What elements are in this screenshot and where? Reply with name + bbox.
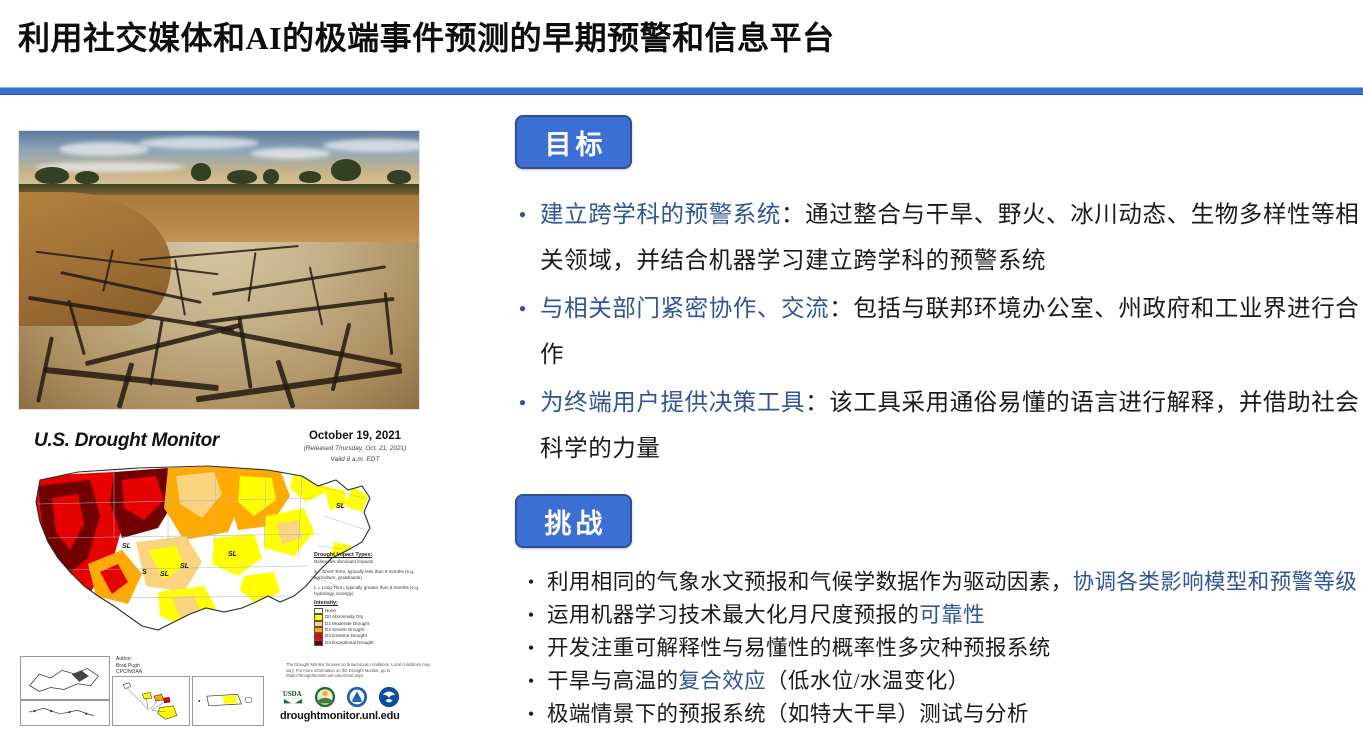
noaa-logo — [378, 686, 400, 708]
map-agency-logos: USDA — [282, 686, 400, 708]
challenge-item-text: 利用相同的气象水文预报和气候学数据作为驱动因素，协调各类影响模型和预警等级 — [547, 566, 1363, 599]
challenge-item-pre: 干旱与高温的 — [547, 669, 678, 693]
svg-text:SL: SL — [180, 563, 189, 570]
challenge-item-text: 开发注重可解释性与易懂性的概率性多灾种预报系统 — [547, 632, 1363, 665]
list-item: • 运用机器学习技术最大化月尺度预报的可靠性 — [515, 599, 1363, 632]
challenge-item-pre: 运用机器学习技术最大化月尺度预报的 — [547, 603, 919, 627]
photo-crack-pattern — [19, 242, 419, 409]
goal-item-highlight: 为终端用户提供决策工具 — [540, 390, 805, 416]
usda-logo: USDA — [282, 686, 304, 708]
us-drought-monitor-map: U.S. Drought Monitor October 19, 2021 (R… — [18, 424, 438, 724]
tree-shape — [299, 171, 321, 183]
challenge-item-highlight: 复合效应 — [678, 669, 766, 693]
challenge-item-text: 干旱与高温的复合效应（低水位/水温变化） — [547, 665, 1363, 698]
legend-item: D4 Exceptional Drought — [314, 640, 434, 646]
intensity-heading: Intensity: — [314, 600, 434, 606]
tree-shape — [387, 170, 411, 184]
map-footnote: The Drought Monitor focuses on broad-sca… — [286, 662, 436, 679]
challenge-item-text: 极端情景下的预报系统（如特大干旱）测试与分析 — [547, 698, 1363, 731]
impact-type-1: S = Short-Term, typically less than 6 mo… — [314, 569, 434, 582]
svg-text:SL: SL — [336, 503, 345, 510]
bullet-icon: • — [515, 698, 547, 731]
challenge-bullet-list: • 利用相同的气象水文预报和气候学数据作为驱动因素，协调各类影响模型和预警等级 … — [515, 566, 1363, 731]
list-item: • 利用相同的气象水文预报和气候学数据作为驱动因素，协调各类影响模型和预警等级 — [515, 566, 1363, 599]
inset-alaska — [20, 656, 110, 700]
goal-bullet-list: • 建立跨学科的预警系统：通过整合与干旱、野火、冰川动态、生物多样性等相关领域，… — [505, 192, 1363, 474]
challenge-item-highlight: 协调各类影响模型和预警等级 — [1073, 570, 1358, 594]
challenge-item-pre: 开发注重可解释性与易懂性的概率性多灾种预报系统 — [547, 636, 1051, 660]
goal-item-highlight: 建立跨学科的预警系统 — [540, 202, 781, 228]
svg-text:SL: SL — [160, 571, 169, 578]
challenge-item-pre: 利用相同的气象水文预报和气候学数据作为驱动因素， — [547, 570, 1073, 594]
ndmc-logo — [314, 686, 336, 708]
cloud-shape — [251, 148, 331, 159]
challenge-item-text: 运用机器学习技术最大化月尺度预报的可靠性 — [547, 599, 1363, 632]
challenge-item-post: （低水位/水温变化） — [766, 669, 969, 693]
usdc-logo — [346, 686, 368, 708]
svg-text:SL: SL — [122, 543, 131, 550]
goal-item-text: 为终端用户提供决策工具：该工具采用通俗易懂的语言进行解释，并借助社会科学的力量 — [540, 380, 1363, 472]
legend-swatch — [314, 640, 323, 646]
svg-text:SL: SL — [228, 551, 237, 558]
map-url: droughtmonitor.unl.edu — [280, 710, 400, 722]
bullet-icon: • — [505, 380, 540, 426]
impact-types-heading: Drought Impact Types: — [314, 552, 434, 558]
map-author: Author: Brad Pugh CPC/NOAA — [116, 656, 142, 676]
cloud-shape — [139, 137, 259, 149]
list-item: • 开发注重可解释性与易懂性的概率性多灾种预报系统 — [515, 632, 1363, 665]
bullet-icon: • — [515, 632, 547, 665]
inset-hawaii — [112, 676, 190, 726]
tree-shape — [263, 169, 279, 184]
page-title: 利用社交媒体和AI的极端事件预测的早期预警和信息平台 — [18, 16, 1338, 60]
inset-alaska-aleutians — [20, 700, 110, 726]
list-item: • 与相关部门紧密协作、交流：包括与联邦环境办公室、州政府和工业界进行合作 — [505, 286, 1363, 378]
challenge-item-highlight: 可靠性 — [919, 603, 985, 627]
goal-item-text: 与相关部门紧密协作、交流：包括与联邦环境办公室、州政府和工业界进行合作 — [540, 286, 1363, 378]
svg-text:USDA: USDA — [283, 691, 302, 698]
impact-type-2: L = Long-Term, typically greater than 6 … — [314, 585, 434, 598]
list-item: • 干旱与高温的复合效应（低水位/水温变化） — [515, 665, 1363, 698]
bullet-icon: • — [505, 192, 540, 238]
drought-photo — [18, 130, 420, 410]
bullet-icon: • — [515, 665, 547, 698]
map-date-value: October 19, 2021 — [309, 430, 401, 442]
author-org: CPC/NOAA — [116, 669, 142, 676]
section-header-challenge: 挑战 — [515, 494, 632, 548]
list-item: • 为终端用户提供决策工具：该工具采用通俗易懂的语言进行解释，并借助社会科学的力… — [505, 380, 1363, 472]
svg-text:S: S — [142, 569, 147, 576]
list-item: • 建立跨学科的预警系统：通过整合与干旱、野火、冰川动态、生物多样性等相关领域，… — [505, 192, 1363, 284]
tree-shape — [227, 170, 257, 184]
goal-item-text: 建立跨学科的预警系统：通过整合与干旱、野火、冰川动态、生物多样性等相关领域，并结… — [540, 192, 1363, 284]
title-divider-rule — [0, 87, 1363, 95]
map-legend: Drought Impact Types: Delineates dominan… — [314, 552, 434, 646]
goal-item-highlight: 与相关部门紧密协作、交流 — [540, 296, 829, 322]
bullet-icon: • — [515, 599, 547, 632]
tree-shape — [191, 163, 211, 181]
tree-shape — [75, 171, 99, 184]
challenge-item-pre: 极端情景下的预报系统（如特大干旱）测试与分析 — [547, 702, 1029, 726]
tree-shape — [331, 159, 361, 181]
section-header-goal: 目标 — [515, 115, 632, 169]
bullet-icon: • — [515, 566, 547, 599]
list-item: • 极端情景下的预报系统（如特大干旱）测试与分析 — [515, 698, 1363, 731]
inset-puerto-rico — [192, 676, 264, 726]
bullet-icon: • — [505, 286, 540, 332]
tree-shape — [35, 167, 69, 184]
legend-label: D4 Exceptional Drought — [325, 640, 374, 646]
